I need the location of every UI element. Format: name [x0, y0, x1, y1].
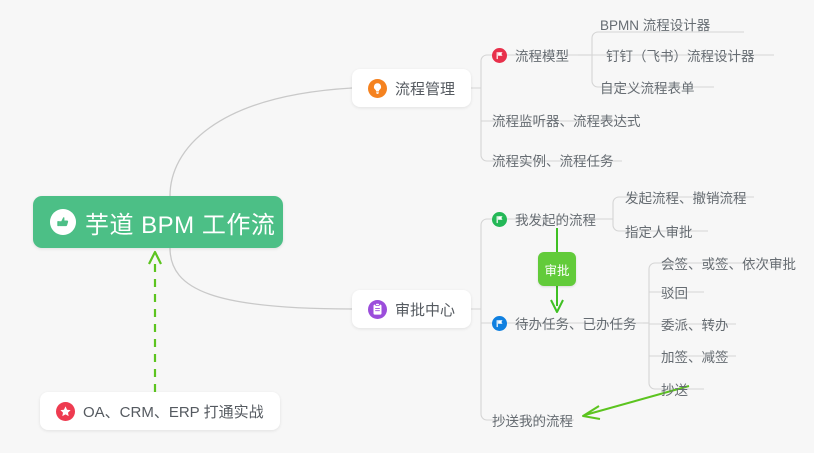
- approval-tag[interactable]: 审批: [538, 252, 576, 286]
- link-pm-rail: [481, 55, 487, 161]
- flag-red-icon: [492, 48, 507, 63]
- node-cc-to-me[interactable]: 抄送我的流程: [492, 405, 573, 435]
- node-label: 待办任务、已办任务: [515, 313, 637, 333]
- branch-label: 流程管理: [395, 78, 455, 99]
- link-todo-rail: [649, 263, 655, 389]
- link-root-to-process-management: [170, 88, 352, 196]
- node-label: BPMN 流程设计器: [600, 14, 710, 34]
- root-label: 芋道 BPM 工作流: [85, 205, 275, 240]
- node-cc[interactable]: 抄送: [661, 374, 688, 404]
- node-label: 流程实例、流程任务: [492, 150, 614, 170]
- node-my-initiated[interactable]: 我发起的流程: [492, 204, 596, 234]
- integration-label: OA、CRM、ERP 打通实战: [83, 401, 264, 422]
- node-instance-task[interactable]: 流程实例、流程任务: [492, 145, 614, 175]
- node-dingtalk-feishu-designer[interactable]: 钉钉（飞书）流程设计器: [606, 40, 755, 70]
- node-counter-or-sequential[interactable]: 会签、或签、依次审批: [661, 248, 796, 278]
- node-custom-process-form[interactable]: 自定义流程表单: [600, 72, 695, 102]
- node-label: 自定义流程表单: [600, 77, 695, 97]
- node-label: 驳回: [661, 282, 688, 302]
- flag-blue-icon: [492, 316, 507, 331]
- node-start-cancel[interactable]: 发起流程、撤销流程: [625, 182, 747, 212]
- thumbs-up-icon: [50, 209, 76, 235]
- branch-label: 审批中心: [395, 299, 455, 320]
- node-label: 流程监听器、流程表达式: [492, 110, 641, 130]
- integration-node[interactable]: OA、CRM、ERP 打通实战: [40, 392, 280, 430]
- node-label: 发起流程、撤销流程: [625, 187, 747, 207]
- node-bpmn-designer[interactable]: BPMN 流程设计器: [600, 9, 710, 39]
- node-label: 抄送: [661, 379, 688, 399]
- mindmap-canvas: 芋道 BPM 工作流 流程管理 流程模型 BPMN 流程设计器 钉钉（飞书）流程…: [0, 0, 814, 453]
- link-root-to-approval-center: [170, 248, 352, 309]
- clipboard-icon: [368, 300, 387, 319]
- branch-process-management[interactable]: 流程管理: [352, 69, 471, 107]
- node-label: 会签、或签、依次审批: [661, 253, 796, 273]
- node-label: 委派、转办: [661, 314, 729, 334]
- approval-tag-label: 审批: [544, 260, 569, 279]
- arrow-integration: [149, 252, 161, 392]
- node-add-remove-sign[interactable]: 加签、减签: [661, 341, 729, 371]
- lightbulb-icon: [368, 79, 387, 98]
- link-model-rail: [592, 32, 598, 87]
- node-label: 我发起的流程: [515, 209, 596, 229]
- star-icon: [56, 402, 75, 421]
- node-listener-expression[interactable]: 流程监听器、流程表达式: [492, 105, 641, 135]
- node-label: 指定人审批: [625, 221, 693, 241]
- link-init-rail: [613, 197, 619, 231]
- node-todo-done-task[interactable]: 待办任务、已办任务: [492, 308, 637, 338]
- link-ac-rail: [481, 219, 487, 420]
- node-label: 钉钉（飞书）流程设计器: [606, 45, 755, 65]
- root-node[interactable]: 芋道 BPM 工作流: [33, 196, 283, 248]
- flag-green-icon: [492, 212, 507, 227]
- node-label: 抄送我的流程: [492, 410, 573, 430]
- node-label: 流程模型: [515, 45, 569, 65]
- node-delegate-transfer[interactable]: 委派、转办: [661, 309, 729, 339]
- node-label: 加签、减签: [661, 346, 729, 366]
- node-reject[interactable]: 驳回: [661, 277, 688, 307]
- branch-approval-center[interactable]: 审批中心: [352, 290, 471, 328]
- node-process-model[interactable]: 流程模型: [492, 40, 569, 70]
- node-assignee-approval[interactable]: 指定人审批: [625, 216, 693, 246]
